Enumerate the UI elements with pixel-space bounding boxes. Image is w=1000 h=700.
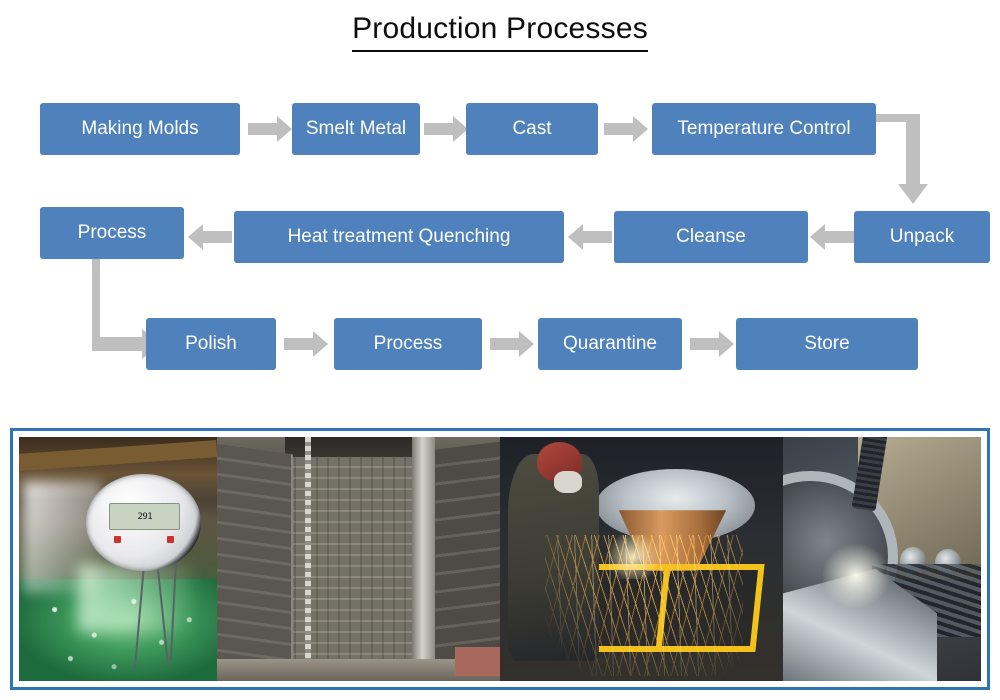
red-panel	[455, 647, 500, 676]
photo-strip: 291	[19, 437, 981, 681]
arrow-head	[719, 331, 734, 357]
flow-node-process-lower[interactable]: Process	[334, 318, 482, 370]
arrow-shaft	[248, 123, 278, 135]
furnace-door-left	[217, 444, 293, 679]
worker-face-mask	[554, 471, 582, 493]
temperature-gauge: 291	[86, 474, 201, 572]
photo-cnc-machining	[783, 437, 981, 681]
arrow-shaft	[824, 231, 854, 243]
arrow-shaft	[690, 338, 720, 350]
flow-node-store[interactable]: Store	[736, 318, 918, 370]
flowchart: Making Molds Smelt Metal Cast Temperatur…	[0, 0, 1000, 420]
flow-node-process-upper[interactable]: Process	[40, 207, 184, 259]
arrow-head	[519, 331, 534, 357]
elbow-connector-temperature-control-to-unpack	[876, 108, 956, 218]
support-pillar	[412, 437, 435, 681]
arrow-quarantine-to-store	[690, 331, 734, 357]
arrow-head	[277, 116, 292, 142]
arrow-unpack-to-cleanse	[810, 224, 854, 250]
gauge-lcd-display: 291	[109, 503, 180, 530]
arrow-shaft	[284, 338, 314, 350]
arrow-cast-to-temperature-control	[604, 116, 648, 142]
arrow-cleanse-to-heat-treatment	[568, 224, 612, 250]
hoist-chain	[305, 437, 311, 669]
grinding-flash	[602, 535, 664, 579]
gauge-button-left	[114, 536, 121, 543]
arrow-shaft	[424, 123, 454, 135]
flow-node-quarantine[interactable]: Quarantine	[538, 318, 682, 370]
arrow-smelt-metal-to-cast	[424, 116, 468, 142]
flow-node-polish[interactable]: Polish	[146, 318, 276, 370]
flow-node-heat-treatment-quenching[interactable]: Heat treatment Quenching	[234, 211, 564, 263]
coolant-spray	[822, 544, 889, 607]
flow-node-unpack[interactable]: Unpack	[854, 211, 990, 263]
arrow-process-to-quarantine	[490, 331, 534, 357]
flow-node-making-molds[interactable]: Making Molds	[40, 103, 240, 155]
arrow-shaft	[490, 338, 520, 350]
photo-temperature-gauge: 291	[19, 437, 217, 681]
arrow-making-molds-to-smelt-metal	[248, 116, 292, 142]
arrow-head	[810, 224, 825, 250]
photo-furnace-chamber	[217, 437, 500, 681]
arrow-shaft	[604, 123, 634, 135]
photo-gallery-panel: 291	[10, 428, 990, 690]
arrow-shaft	[582, 231, 612, 243]
arrow-head	[633, 116, 648, 142]
arrow-head	[568, 224, 583, 250]
arrow-head	[313, 331, 328, 357]
flow-node-temperature-control[interactable]: Temperature Control	[652, 103, 876, 155]
arrow-shaft	[202, 231, 232, 243]
flow-node-smelt-metal[interactable]: Smelt Metal	[292, 103, 420, 155]
arrow-polish-to-process	[284, 331, 328, 357]
arrow-head	[188, 224, 203, 250]
flow-node-cast[interactable]: Cast	[466, 103, 598, 155]
gauge-button-right	[167, 536, 174, 543]
flow-node-cleanse[interactable]: Cleanse	[614, 211, 808, 263]
photo-grinding-sparks	[500, 437, 783, 681]
arrow-heat-treatment-to-process	[188, 224, 232, 250]
